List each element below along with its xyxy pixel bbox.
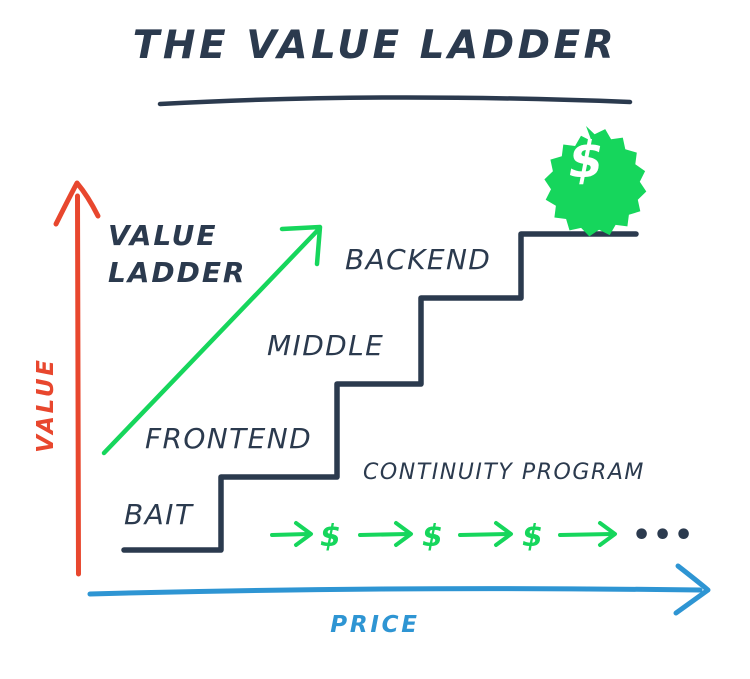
continuity-dollar-3: $ [522, 519, 543, 554]
x-axis-label: PRICE [0, 613, 750, 637]
x-axis-line [90, 589, 700, 594]
continuity-arrow-1 [272, 523, 311, 545]
y-axis-line [78, 196, 79, 574]
y-axis [56, 183, 98, 574]
page-title: THE VALUE LADDER [0, 26, 750, 67]
x-axis [90, 566, 708, 613]
continuity-ellipsis: ••• [632, 521, 695, 551]
continuity-arrow-2 [360, 523, 411, 545]
continuity-program-label: CONTINUITY PROGRAM [363, 461, 645, 484]
step-label-backend: BACKEND [345, 245, 491, 274]
continuity-arrow-3 [460, 523, 511, 545]
continuity-dollar-2: $ [422, 519, 443, 554]
title-underline-swoosh [160, 97, 630, 104]
value-ladder-callout: VALUE LADDER [108, 218, 246, 292]
dollar-sign-icon: $ [552, 135, 620, 185]
continuity-dollar-1: $ [320, 519, 341, 554]
step-label-middle: MIDDLE [267, 331, 384, 360]
y-axis-label: VALUE [34, 357, 58, 453]
value-ladder-infographic: THE VALUE LADDER VALUE LADDER $ BACKEND … [0, 0, 750, 679]
step-label-frontend: FRONTEND [145, 424, 312, 453]
continuity-arrow-4 [560, 523, 615, 545]
value-ladder-callout-line2: LADDER [108, 256, 246, 289]
step-label-bait: BAIT [124, 500, 193, 529]
value-ladder-callout-line1: VALUE [108, 219, 217, 252]
